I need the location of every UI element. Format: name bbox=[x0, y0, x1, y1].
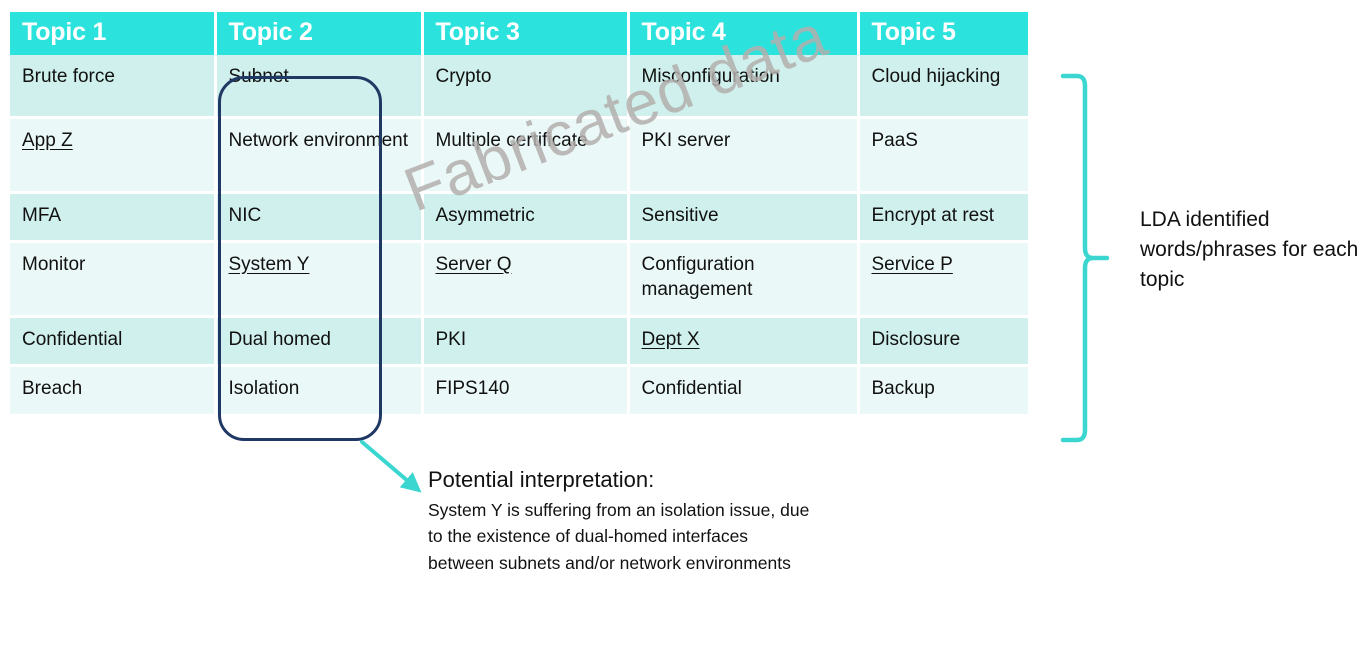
column-header-topic-5: Topic 5 bbox=[858, 12, 1028, 55]
table-row: Brute force Subnet Crypto Misconfigurati… bbox=[10, 55, 1028, 117]
cell-text: System Y bbox=[229, 254, 310, 275]
cell-text: Server Q bbox=[436, 254, 512, 275]
table-row: MFA NIC Asymmetric Sensitive Encrypt at … bbox=[10, 192, 1028, 241]
cell-r0-c2: Crypto bbox=[422, 55, 628, 117]
cell-r4-c0: Confidential bbox=[10, 316, 215, 365]
table-row: Confidential Dual homed PKI Dept X Discl… bbox=[10, 316, 1028, 365]
cell-r4-c4: Disclosure bbox=[858, 316, 1028, 365]
cell-r4-c3: Dept X bbox=[628, 316, 858, 365]
cell-r2-c4: Encrypt at rest bbox=[858, 192, 1028, 241]
right-curly-brace-icon bbox=[1035, 62, 1120, 462]
cell-r1-c1: Network environment bbox=[215, 117, 422, 192]
topic-table: Topic 1 Topic 2 Topic 3 Topic 4 Topic 5 … bbox=[10, 12, 1028, 417]
cell-r2-c3: Sensitive bbox=[628, 192, 858, 241]
cell-r3-c2: Server Q bbox=[422, 241, 628, 316]
cell-r4-c1: Dual homed bbox=[215, 316, 422, 365]
potential-interpretation-callout: Potential interpretation: System Y is su… bbox=[428, 466, 818, 577]
cell-r2-c1: NIC bbox=[215, 192, 422, 241]
table-header-row: Topic 1 Topic 2 Topic 3 Topic 4 Topic 5 bbox=[10, 12, 1028, 55]
callout-body: System Y is suffering from an isolation … bbox=[428, 497, 818, 577]
cell-r5-c1: Isolation bbox=[215, 365, 422, 415]
cell-r0-c0: Brute force bbox=[10, 55, 215, 117]
cell-r1-c3: PKI server bbox=[628, 117, 858, 192]
cell-text: App Z bbox=[22, 130, 73, 151]
table-row: Breach Isolation FIPS140 Confidential Ba… bbox=[10, 365, 1028, 415]
column-header-topic-1: Topic 1 bbox=[10, 12, 215, 55]
column-header-topic-4: Topic 4 bbox=[628, 12, 858, 55]
cell-r0-c3: Misconfiguration bbox=[628, 55, 858, 117]
cell-r5-c3: Confidential bbox=[628, 365, 858, 415]
cell-r1-c4: PaaS bbox=[858, 117, 1028, 192]
column-header-topic-3: Topic 3 bbox=[422, 12, 628, 55]
cell-r1-c2: Multiple certificate bbox=[422, 117, 628, 192]
column-header-topic-2: Topic 2 bbox=[215, 12, 422, 55]
cell-r5-c0: Breach bbox=[10, 365, 215, 415]
brace-label: LDA identified words/phrases for each to… bbox=[1140, 205, 1369, 294]
cell-r3-c4: Service P bbox=[858, 241, 1028, 316]
callout-arrow-icon bbox=[350, 430, 440, 510]
cell-text: Service P bbox=[872, 254, 953, 275]
cell-r4-c2: PKI bbox=[422, 316, 628, 365]
cell-r5-c2: FIPS140 bbox=[422, 365, 628, 415]
cell-r0-c1: Subnet bbox=[215, 55, 422, 117]
cell-r3-c0: Monitor bbox=[10, 241, 215, 316]
cell-r2-c0: MFA bbox=[10, 192, 215, 241]
callout-title: Potential interpretation: bbox=[428, 466, 818, 495]
table-row: Monitor System Y Server Q Configuration … bbox=[10, 241, 1028, 316]
cell-r1-c0: App Z bbox=[10, 117, 215, 192]
cell-r0-c4: Cloud hijacking bbox=[858, 55, 1028, 117]
cell-r3-c3: Configuration management bbox=[628, 241, 858, 316]
cell-r2-c2: Asymmetric bbox=[422, 192, 628, 241]
table-row: App Z Network environment Multiple certi… bbox=[10, 117, 1028, 192]
cell-r5-c4: Backup bbox=[858, 365, 1028, 415]
cell-text: Dept X bbox=[642, 329, 700, 350]
cell-r3-c1: System Y bbox=[215, 241, 422, 316]
